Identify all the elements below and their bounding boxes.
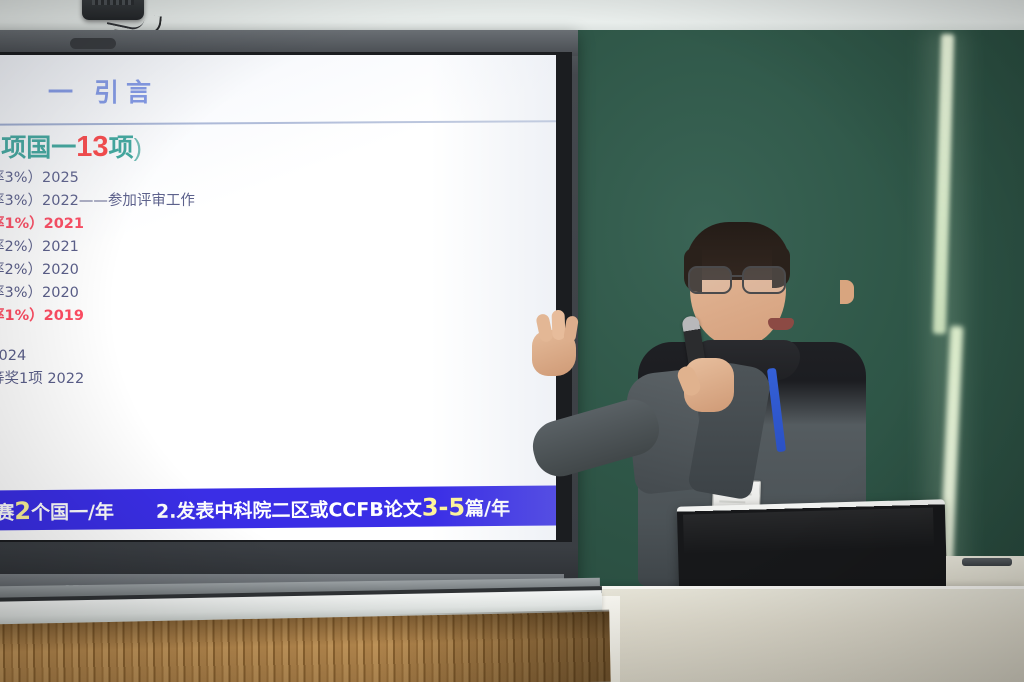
slide-list-item: 项（获奖率3%）2022——参加评审工作 [0,194,556,209]
presenter-ear [840,280,854,304]
glasses-bridge [730,275,744,277]
footer-left-number: 2 [14,497,31,525]
slide-list-item: 项全国二等奖1项 2022 [0,372,556,387]
slide-list-item: 项（获奖率1%）2021 [0,217,556,232]
heading-paren: ) [134,134,142,162]
heading-number-2: 13 [76,131,108,163]
presentation-slide: 一 引言 奖60项国一13项) 项（获奖率3%）2025项（获奖率3%）2022… [0,55,556,540]
monitor-back-shine [683,508,934,555]
speaker-grill [92,0,134,5]
slide-footer-text: GA竞赛2个国一/年2.发表中科院二区或CCFB论文3-5篇/年 [0,492,556,525]
hand-finger [563,315,579,343]
footer-right-number: 3-5 [422,493,466,521]
glasses-lens-right [742,266,786,294]
slide-title: 一 引言 [48,73,158,109]
presenter-mic-hand [680,344,742,418]
slide-list-item: 项（获奖率1%）2019 [0,309,556,324]
slide-list-item: 022 [0,464,556,479]
glasses-icon [686,266,790,290]
lectern [576,586,1024,682]
lecture-room-photo: SEEWO 一 引言 奖60项国一13项) 项（获奖率3%）2025项（获奖率3… [0,0,1024,682]
footer-left-label: GA竞赛 [0,502,14,525]
slide-list-item: 项 2024 [0,418,556,433]
heading-middle: 项国一 [1,134,76,162]
slide-list-item: 项（获奖率3%）2020 [0,286,556,301]
slide-list-item: 项（获奖率3%）2025 [0,171,556,186]
desktop-monitor[interactable] [677,499,947,596]
smartboard-camera-nub [70,38,116,49]
slide-title-underline [0,120,556,126]
slide-body-list: 项（获奖率3%）2025项（获奖率3%）2022——参加评审工作项（获奖率1%）… [0,171,556,540]
slide-list-item: 项 2020 [0,395,556,410]
footer-right-tail: 篇/年 [465,498,510,520]
slide-heading: 奖60项国一13项) [0,128,142,164]
slide-list-item: 项（获奖率2%）2020 [0,263,556,278]
badge-text-line [719,500,745,503]
slide-list-item: 项 2023 [0,441,556,456]
footer-left-tail: 个国一/年 [31,501,114,524]
list-item-text: 全国二等奖1项 2022 [0,371,84,387]
slide-list-item: 等奖1项 2024 [0,349,556,364]
footer-right-label: 2.发表中科院二区或CCFB论文 [156,499,422,523]
lectern-top-edge [576,586,1024,589]
heading-suffix: 项 [109,134,134,162]
presenter-mouth [768,318,794,330]
desk-object [962,558,1012,566]
smartboard-screen[interactable]: 一 引言 奖60项国一13项) 项（获奖率3%）2025项（获奖率3%）2022… [0,55,556,540]
slide-list-item: 项（获奖率2%）2021 [0,240,556,255]
list-spacer [0,332,556,349]
glasses-lens-left [688,266,732,294]
presenter-gesturing-hand [528,314,584,380]
wood-paneling-right-shadow [379,610,611,682]
